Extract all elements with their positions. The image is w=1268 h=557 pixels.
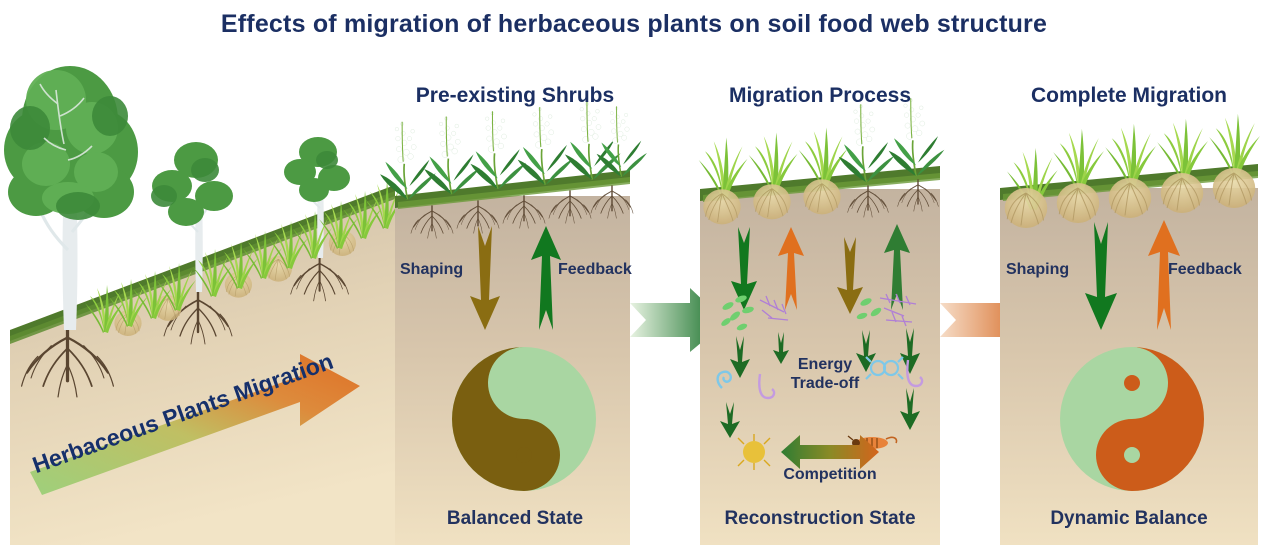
label-energy-tradeoff-line1: Energy bbox=[770, 356, 880, 375]
panel-pre-existing-shrubs bbox=[380, 102, 647, 545]
panel-header-pre-existing-shrubs: Pre-existing Shrubs bbox=[395, 84, 635, 108]
figure-canvas: Effects of migration of herbaceous plant… bbox=[0, 0, 1268, 557]
label-feedback-panel1: Feedback bbox=[558, 261, 632, 279]
label-shaping-panel1: Shaping bbox=[400, 261, 463, 279]
label-shaping-panel3: Shaping bbox=[1006, 261, 1069, 279]
panel-complete-migration bbox=[1000, 114, 1260, 545]
label-energy-tradeoff: Energy Trade-off bbox=[770, 356, 880, 394]
label-competition: Competition bbox=[770, 466, 890, 485]
label-feedback-panel3: Feedback bbox=[1168, 261, 1242, 279]
state-label-reconstruction: Reconstruction State bbox=[700, 508, 940, 530]
page-title: Effects of migration of herbaceous plant… bbox=[0, 10, 1268, 39]
balanced-state-yinyang bbox=[452, 347, 596, 491]
label-energy-tradeoff-line2: Trade-off bbox=[770, 375, 880, 394]
panel-header-migration-process: Migration Process bbox=[700, 84, 940, 108]
state-label-dynamic-balance: Dynamic Balance bbox=[1000, 508, 1258, 530]
state-label-balanced: Balanced State bbox=[395, 508, 635, 530]
dynamic-balance-yinyang bbox=[1060, 347, 1204, 491]
panel-header-complete-migration: Complete Migration bbox=[1000, 84, 1258, 108]
